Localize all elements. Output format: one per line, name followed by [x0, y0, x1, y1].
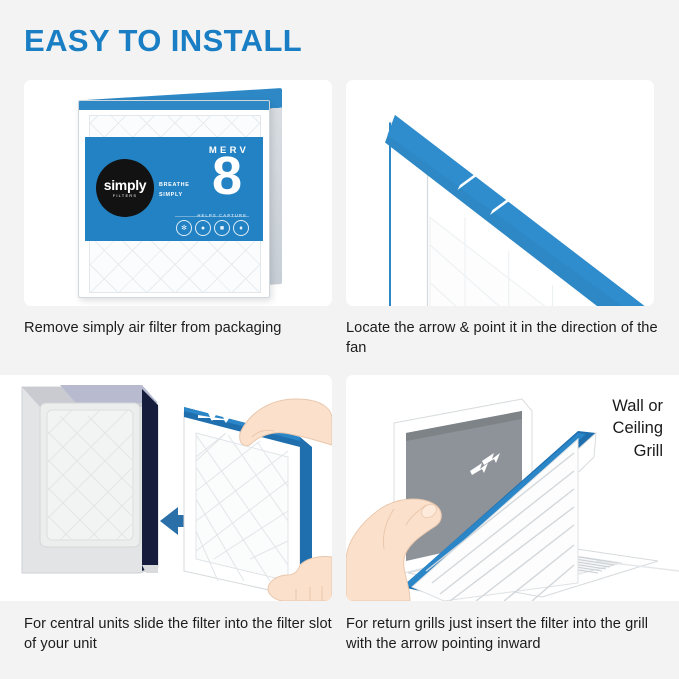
brand-logo-name: simply	[104, 178, 147, 192]
panel-1-card: simply FILTERS BREATHE SIMPLY MERV 8 HEL…	[24, 80, 332, 306]
product-tagline: BREATHE SIMPLY	[159, 180, 190, 201]
filter-package: simply FILTERS BREATHE SIMPLY MERV 8 HEL…	[72, 94, 282, 292]
tagline-line-1: BREATHE	[159, 180, 190, 190]
package-top-edge	[79, 101, 269, 110]
panel-4-caption: For return grills just insert the filter…	[346, 614, 671, 654]
grill-annotation-line-2: Ceiling	[612, 417, 663, 439]
lint-icon: ■	[214, 220, 230, 236]
capture-icon-row: ✻ ● ■ ♦	[176, 220, 249, 236]
panel-1-caption: Remove simply air filter from packaging	[24, 318, 339, 338]
panel-3-card	[0, 375, 332, 601]
product-label: simply FILTERS BREATHE SIMPLY MERV 8 HEL…	[85, 137, 263, 241]
grill-annotation: Wall or Ceiling Grill	[612, 395, 663, 462]
mold-icon: ♦	[233, 220, 249, 236]
pollen-icon: ✻	[176, 220, 192, 236]
panel-4-illustration: Wall or Ceiling Grill	[346, 375, 679, 601]
instruction-infographic: EASY TO INSTALL simply FILTERS BREATHE	[0, 0, 679, 679]
filter-slot-housing	[22, 385, 158, 573]
page-title: EASY TO INSTALL	[24, 24, 302, 58]
brand-logo-subtitle: FILTERS	[113, 193, 138, 198]
tagline-line-2: SIMPLY	[159, 190, 190, 200]
merv-rating-value: 8	[212, 149, 241, 203]
panel-4-card: Wall or Ceiling Grill	[346, 375, 679, 601]
dust-icon: ●	[195, 220, 211, 236]
package-front-face: simply FILTERS BREATHE SIMPLY MERV 8 HEL…	[78, 100, 270, 298]
panel-3-illustration	[0, 375, 332, 601]
panel-2-illustration	[346, 80, 654, 306]
central-unit-insert-diagram	[0, 375, 332, 601]
brand-logo: simply FILTERS	[96, 159, 154, 217]
panel-3-caption: For central units slide the filter into …	[24, 614, 336, 654]
filter-frame-closeup	[346, 80, 654, 306]
panel-1-illustration: simply FILTERS BREATHE SIMPLY MERV 8 HEL…	[24, 80, 332, 306]
panel-2-card	[346, 80, 654, 306]
helps-capture-label: HELPS CAPTURE	[197, 213, 247, 218]
panel-2-caption: Locate the arrow & point it in the direc…	[346, 318, 661, 358]
grill-annotation-line-3: Grill	[612, 440, 663, 462]
grill-annotation-line-1: Wall or	[612, 395, 663, 417]
